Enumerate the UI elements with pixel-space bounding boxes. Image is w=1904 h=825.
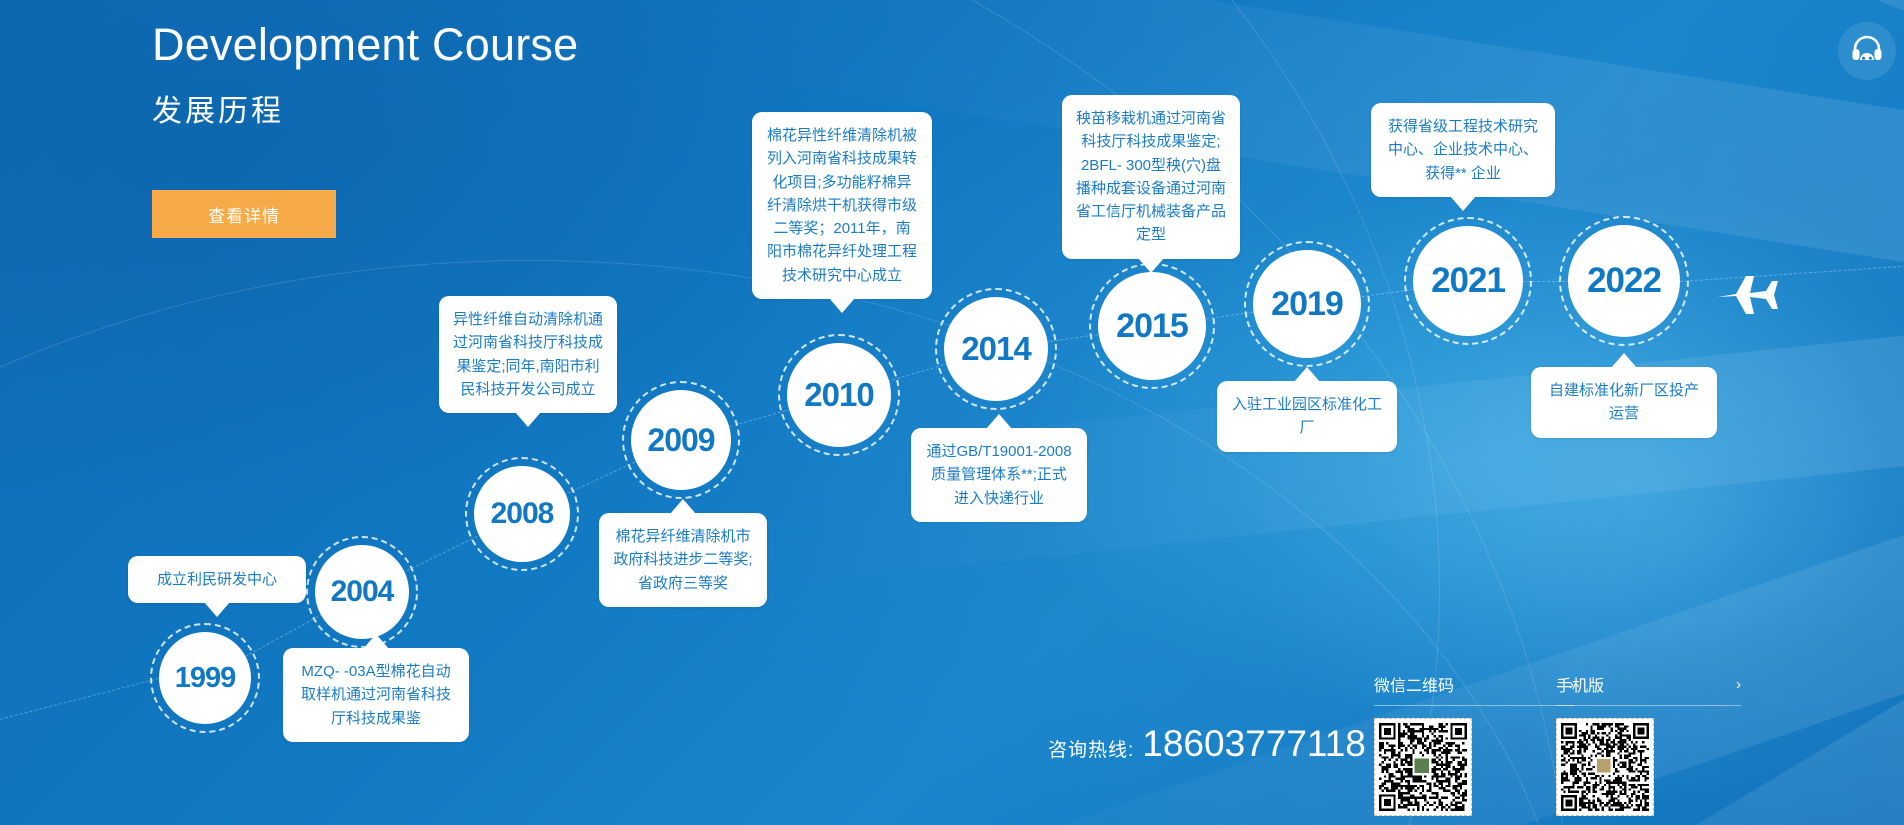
- milestone-label-text: 棉花异纤维清除机市政府科技进步二等奖;省政府三等奖: [613, 528, 752, 592]
- milestone-label-text: 成立利民研发中心: [157, 571, 277, 588]
- timeline-connector: [0, 678, 159, 761]
- qr-title-mobile: 手机版: [1556, 672, 1604, 696]
- milestone-label-text: 棉花异性纤维清除机被列入河南省科技成果转化项目;多功能籽棉异纤清除烘干机获得市级…: [767, 127, 917, 284]
- milestone-year-text: 2004: [331, 575, 394, 609]
- airplane-icon: [1716, 272, 1780, 323]
- headset-icon: [1850, 32, 1884, 71]
- customer-service-button[interactable]: [1838, 22, 1896, 80]
- milestone-label-2014: 通过GB/T19001-2008质量管理体系**;正式进入快递行业: [911, 428, 1087, 522]
- milestone-label-text: 异性纤维自动清除机通过河南省科技厅科技成果鉴定;同年,南阳市利民科技开发公司成立: [453, 311, 603, 398]
- timeline-connector: [1680, 262, 1904, 282]
- milestone-year-text: 2021: [1431, 261, 1505, 301]
- milestone-node-1999[interactable]: 1999: [159, 632, 251, 724]
- qr-block-mobile: 手机版 ›: [1556, 672, 1741, 816]
- milestone-label-2004: MZQ- -03A型棉花自动取样机通过河南省科技厅科技成果鉴: [283, 648, 469, 742]
- qr-header-wechat[interactable]: 微信二维码 ›: [1374, 672, 1574, 706]
- milestone-year-text: 2009: [647, 422, 714, 459]
- milestone-label-2009: 棉花异纤维清除机市政府科技进步二等奖;省政府三等奖: [599, 513, 767, 607]
- milestone-label-2015: 秧苗移栽机通过河南省科技厅科技成果鉴定; 2BFL- 300型秧(穴)盘播种成套…: [1062, 95, 1240, 259]
- milestone-node-2009[interactable]: 2009: [631, 390, 731, 490]
- milestone-label-2021: 获得省级工程技术研究中心、企业技术中心、获得** 企业: [1371, 103, 1555, 197]
- qr-title-wechat: 微信二维码: [1374, 672, 1454, 696]
- milestone-node-2004[interactable]: 2004: [315, 545, 409, 639]
- page-title-chinese: 发展历程: [152, 86, 578, 130]
- milestone-node-2021[interactable]: 2021: [1413, 226, 1523, 336]
- development-course-page: Development Course 发展历程 查看详情 成立利民研发中心199…: [0, 0, 1904, 825]
- chevron-right-icon: ›: [1736, 676, 1741, 693]
- milestone-node-2010[interactable]: 2010: [787, 343, 891, 447]
- milestone-label-2022: 自建标准化新厂区投产运营: [1531, 367, 1717, 438]
- page-title-english: Development Course: [152, 18, 578, 72]
- qr-code-wechat[interactable]: [1374, 718, 1472, 816]
- qr-block-wechat: 微信二维码 ›: [1374, 672, 1574, 816]
- milestone-label-2008: 异性纤维自动清除机通过河南省科技厅科技成果鉴定;同年,南阳市利民科技开发公司成立: [439, 296, 617, 413]
- milestone-label-text: 入驻工业园区标准化工厂: [1232, 396, 1382, 436]
- milestone-node-2022[interactable]: 2022: [1568, 225, 1680, 337]
- milestone-year-text: 2010: [804, 376, 873, 414]
- milestone-node-2008[interactable]: 2008: [474, 466, 570, 562]
- milestone-year-text: 2022: [1587, 261, 1661, 301]
- view-detail-button[interactable]: 查看详情: [152, 190, 336, 238]
- milestone-node-2015[interactable]: 2015: [1098, 272, 1206, 380]
- milestone-year-text: 2015: [1116, 307, 1188, 346]
- qr-header-mobile[interactable]: 手机版 ›: [1556, 672, 1741, 706]
- qr-code-mobile[interactable]: [1556, 718, 1654, 816]
- hotline-number: 18603777118: [1142, 723, 1366, 765]
- milestone-label-1999: 成立利民研发中心: [128, 556, 306, 603]
- milestone-label-2010: 棉花异性纤维清除机被列入河南省科技成果转化项目;多功能籽棉异纤清除烘干机获得市级…: [752, 112, 932, 299]
- milestone-label-text: 获得省级工程技术研究中心、企业技术中心、获得** 企业: [1388, 118, 1538, 182]
- milestone-label-text: 秧苗移栽机通过河南省科技厅科技成果鉴定; 2BFL- 300型秧(穴)盘播种成套…: [1076, 110, 1226, 243]
- milestone-year-text: 2008: [491, 497, 554, 531]
- milestone-label-2019: 入驻工业园区标准化工厂: [1217, 381, 1397, 452]
- milestone-year-text: 2014: [961, 330, 1030, 368]
- hotline: 咨询热线: 18603777118: [1048, 723, 1366, 765]
- milestone-label-text: MZQ- -03A型棉花自动取样机通过河南省科技厅科技成果鉴: [301, 663, 451, 727]
- milestone-label-text: 自建标准化新厂区投产运营: [1549, 382, 1699, 422]
- milestone-node-2019[interactable]: 2019: [1253, 250, 1361, 358]
- milestone-year-text: 1999: [175, 662, 236, 695]
- page-header: Development Course 发展历程: [152, 18, 578, 130]
- milestone-label-text: 通过GB/T19001-2008质量管理体系**;正式进入快递行业: [926, 443, 1071, 507]
- milestone-year-text: 2019: [1271, 285, 1343, 324]
- milestone-node-2014[interactable]: 2014: [944, 297, 1048, 401]
- hotline-label: 咨询热线:: [1048, 735, 1134, 762]
